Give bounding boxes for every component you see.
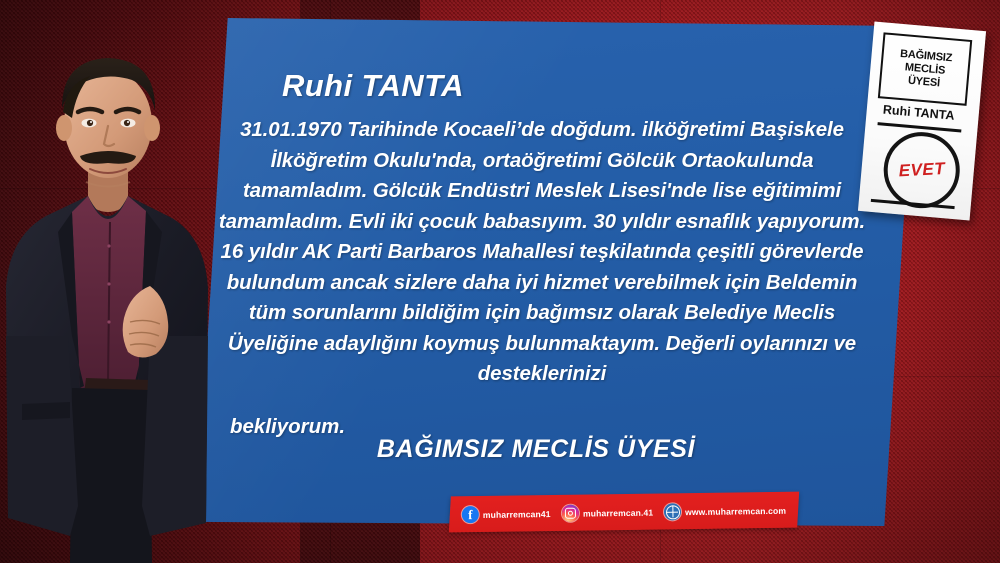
office-tagline: BAĞIMSIZ MECLİS ÜYESİ	[210, 435, 862, 464]
poster-text-block: Ruhi TANTA 31.01.1970 Tarihinde Kocaeli’…	[210, 30, 910, 520]
social-label-facebook: muharremcan41	[483, 508, 551, 519]
social-media-bar: f muharremcan41 muharremcan.41 www.muhar…	[449, 492, 799, 533]
candidate-name-heading: Ruhi TANTA	[282, 68, 464, 104]
biography-text: 31.01.1970 Tarihinde Kocaeli’de doğdum. …	[218, 115, 866, 390]
instagram-icon	[562, 504, 579, 521]
social-item-facebook[interactable]: f muharremcan41	[462, 505, 551, 523]
ballot-office-box: BAĞIMSIZ MECLİS ÜYESİ	[878, 32, 972, 106]
globe-icon	[664, 503, 681, 520]
evet-stamp-text: EVET	[898, 159, 945, 181]
ballot-divider-top	[877, 122, 961, 132]
evet-stamp: EVET	[882, 130, 962, 210]
social-label-website: www.muharremcan.com	[685, 505, 786, 516]
social-item-website[interactable]: www.muharremcan.com	[664, 501, 786, 520]
social-item-instagram[interactable]: muharremcan.41	[562, 503, 654, 521]
ballot-paper: BAĞIMSIZ MECLİS ÜYESİ Ruhi TANTA EVET	[858, 21, 986, 220]
campaign-poster: Ruhi TANTA 31.01.1970 Tarihinde Kocaeli’…	[0, 0, 1000, 563]
facebook-icon: f	[462, 506, 479, 523]
social-label-instagram: muharremcan.41	[583, 507, 653, 518]
ballot-office-line-3: ÜYESİ	[907, 75, 940, 90]
